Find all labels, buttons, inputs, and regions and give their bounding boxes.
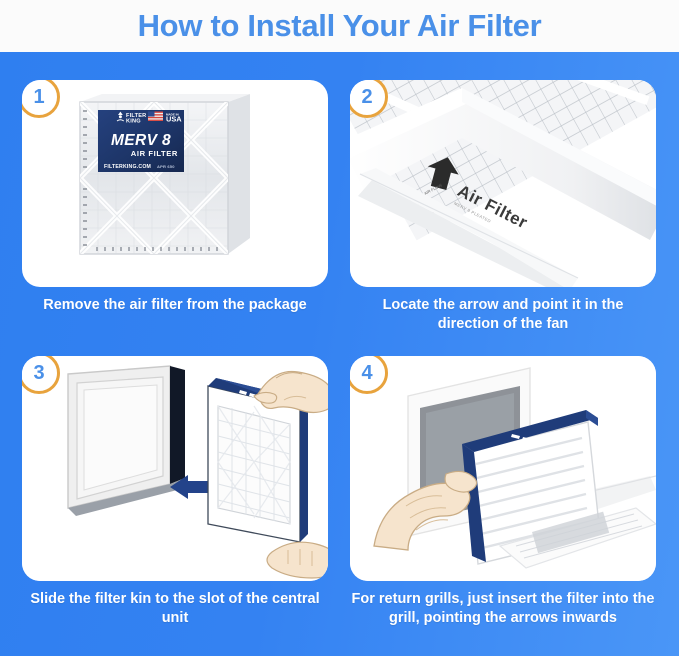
step-4-artwork xyxy=(350,356,656,581)
merv8-filter-illustration: FILTER KING xyxy=(22,80,328,287)
infographic-page: How to Install Your Air Filter xyxy=(0,0,679,656)
step-2-image-card: AIR FLOW Air Filter MERV 8 PLEATED 2 xyxy=(350,80,656,287)
insert-filter-return-grill-illustration xyxy=(350,356,656,581)
step-caption-2: Locate the arrow and point it in the dir… xyxy=(350,296,656,334)
step-card-3: 3 Slide the filter kin to the slot of th… xyxy=(22,356,328,628)
svg-text:KING: KING xyxy=(126,118,141,124)
svg-text:MERV 8: MERV 8 xyxy=(111,132,171,149)
steps-grid: FILTER KING xyxy=(0,52,679,656)
step-1-image-card: FILTER KING xyxy=(22,80,328,287)
step-card-4: 4 For return grills, just insert the fil… xyxy=(350,356,656,628)
step-1-artwork: FILTER KING xyxy=(22,80,328,287)
svg-text:AIR FILTER: AIR FILTER xyxy=(131,149,178,158)
step-3-image-card: 3 xyxy=(22,356,328,581)
step-2-artwork: AIR FLOW Air Filter MERV 8 PLEATED xyxy=(350,80,656,287)
step-card-1: FILTER KING xyxy=(22,80,328,315)
page-title: How to Install Your Air Filter xyxy=(138,8,542,44)
step-caption-3: Slide the filter kin to the slot of the … xyxy=(22,590,328,628)
step-card-2: AIR FLOW Air Filter MERV 8 PLEATED 2 Loc… xyxy=(350,80,656,334)
filter-airflow-arrow-illustration: AIR FLOW Air Filter MERV 8 PLEATED xyxy=(350,80,656,287)
step-3-artwork xyxy=(22,356,328,581)
step-caption-4: For return grills, just insert the filte… xyxy=(350,590,656,628)
header-bar: How to Install Your Air Filter xyxy=(0,0,679,52)
svg-text:FILTERKING.COM: FILTERKING.COM xyxy=(104,164,151,170)
step-caption-1: Remove the air filter from the package xyxy=(22,296,328,315)
svg-text:USA: USA xyxy=(166,114,182,123)
svg-text:APR 650: APR 650 xyxy=(157,164,175,169)
step-4-image-card: 4 xyxy=(350,356,656,581)
slide-filter-into-unit-illustration xyxy=(22,356,328,581)
